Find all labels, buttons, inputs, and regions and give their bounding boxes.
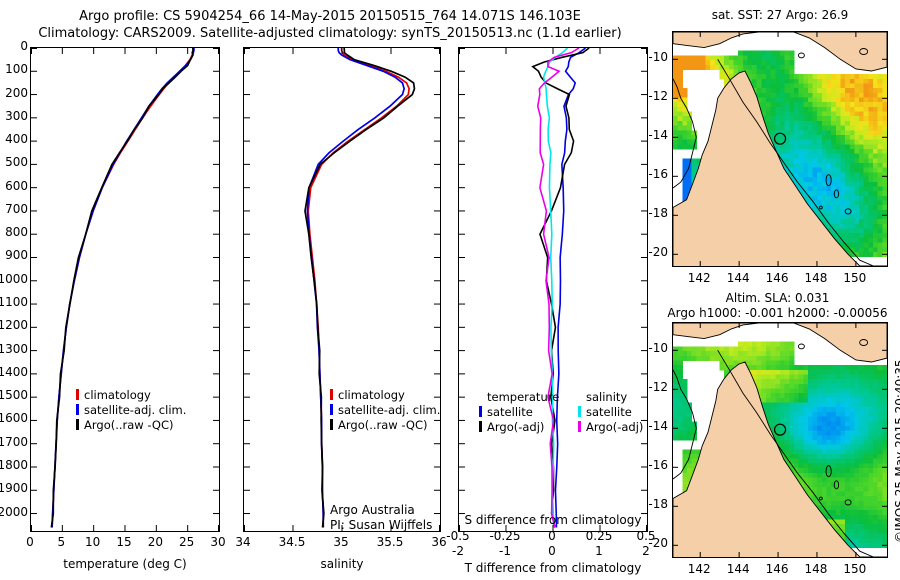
depth-ticklabel-1100: 1100 [0, 295, 28, 309]
legend-label: Argo(-adj) [586, 420, 643, 434]
argo-program-pi: PI: Susan Wijffels [330, 518, 432, 533]
depth-ticklabel-1900: 1900 [0, 481, 28, 495]
legend-color-swatch [578, 421, 581, 432]
tdiff-ticklabel--2: -2 [438, 544, 478, 558]
argo-program-name: Argo Australia [330, 503, 432, 518]
salinity-legend-item: climatology [330, 388, 440, 403]
legend-label: satellite-adj. clim. [338, 403, 440, 417]
difference-profile-plot [459, 48, 647, 531]
temperature-legend-item: climatology [76, 388, 186, 403]
panel-temperature [30, 47, 220, 532]
legend-label: Argo(-adj) [487, 420, 544, 434]
map-sla-title-line1: Altim. SLA: 0.031 [655, 291, 900, 306]
panel-salinity [243, 47, 441, 532]
legend-color-swatch [330, 419, 333, 430]
map-sla-title: Altim. SLA: 0.031 Argo h1000: -0.001 h20… [655, 291, 900, 321]
map-sst-lon-ticklabel-142: 142 [679, 271, 719, 285]
salinity-ticklabel-34.5: 34.5 [270, 535, 314, 549]
legend-label: Argo(..raw -QC) [338, 418, 428, 432]
difference-temperature-legend-header: temperature [479, 390, 559, 405]
difference-salinity-legend: salinitysatelliteArgo(-adj) [578, 390, 643, 435]
panel-difference [458, 47, 648, 532]
map-sla [672, 322, 888, 558]
depth-ticklabel-0: 0 [0, 39, 28, 53]
map-sla-lon-ticklabel-150: 150 [835, 562, 875, 576]
depth-ticklabel-300: 300 [0, 109, 28, 123]
map-sla-lat-ticklabel--14: -14 [636, 419, 668, 433]
depth-ticklabel-400: 400 [0, 132, 28, 146]
map-sst-lon-ticklabel-150: 150 [835, 271, 875, 285]
argo-program-note: Argo Australia PI: Susan Wijffels [330, 503, 432, 533]
map-sla-lat-ticklabel--18: -18 [636, 497, 668, 511]
legend-color-swatch [330, 389, 333, 400]
difference-temperature-legend-item: satellite [479, 405, 559, 420]
map-sst-lon-ticklabel-144: 144 [718, 271, 758, 285]
salinity-legend-item: Argo(..raw -QC) [330, 418, 440, 433]
depth-ticklabel-1500: 1500 [0, 388, 28, 402]
map-sla-lat-ticklabel--16: -16 [636, 458, 668, 472]
salinity-ticklabel-35.5: 35.5 [368, 535, 412, 549]
tdiff-ticklabel--1: -1 [485, 544, 525, 558]
map-sst [672, 31, 888, 267]
map-sst-lat-ticklabel--10: -10 [636, 50, 668, 64]
map-sla-lon-ticklabel-142: 142 [679, 562, 719, 576]
sdiff-ticklabel-0: 0 [530, 529, 574, 543]
map-sst-title: sat. SST: 27 Argo: 26.9 [660, 8, 900, 23]
legend-label: climatology [84, 388, 151, 402]
temperature-profile-plot [31, 48, 219, 531]
depth-ticklabel-1000: 1000 [0, 272, 28, 286]
tdiff-ticklabel-0: 0 [532, 544, 572, 558]
difference-temperature-legend: temperaturesatelliteArgo(-adj) [479, 390, 559, 435]
legend-color-swatch [76, 389, 79, 400]
sdiff-ticklabel--0.5: -0.5 [436, 529, 480, 543]
legend-label: satellite [586, 405, 632, 419]
temperature-legend-item: Argo(..raw -QC) [76, 418, 186, 433]
depth-ticklabel-800: 800 [0, 225, 28, 239]
depth-ticklabel-900: 900 [0, 248, 28, 262]
map-sst-lat-ticklabel--20: -20 [636, 245, 668, 259]
sdiff-ticklabel-0.25: 0.25 [577, 529, 621, 543]
map-sst-lat-ticklabel--12: -12 [636, 89, 668, 103]
legend-color-swatch [330, 404, 333, 415]
depth-ticklabel-600: 600 [0, 179, 28, 193]
salinity-ticklabel-35: 35 [319, 535, 363, 549]
figure-canvas: Argo profile: CS 5904254_66 14-May-2015 … [0, 0, 900, 580]
map-sst-lon-ticklabel-146: 146 [757, 271, 797, 285]
depth-ticklabel-500: 500 [0, 155, 28, 169]
figure-title-line2: Climatology: CARS2009. Satellite-adjuste… [0, 25, 660, 42]
salinity-x-axis-title: salinity [243, 557, 441, 571]
depth-ticklabel-200: 200 [0, 86, 28, 100]
temperature-x-axis-title: temperature (deg C) [30, 557, 220, 571]
depth-ticklabel-1700: 1700 [0, 435, 28, 449]
depth-ticklabel-1600: 1600 [0, 411, 28, 425]
sdiff-ticklabel--0.25: -0.25 [483, 529, 527, 543]
legend-color-swatch [578, 406, 581, 417]
map-sla-lat-ticklabel--12: -12 [636, 380, 668, 394]
difference-top-axis-title: S difference from climatology [458, 513, 648, 527]
difference-bottom-axis-title: T difference from climatology [458, 561, 648, 575]
map-sst-lat-ticklabel--14: -14 [636, 128, 668, 142]
salinity-legend: climatologysatellite-adj. clim.Argo(..ra… [330, 388, 440, 433]
legend-color-swatch [76, 404, 79, 415]
depth-ticklabel-1300: 1300 [0, 342, 28, 356]
depth-ticklabel-100: 100 [0, 62, 28, 76]
map-sla-lon-ticklabel-144: 144 [718, 562, 758, 576]
temperature-legend: climatologysatellite-adj. clim.Argo(..ra… [76, 388, 186, 433]
depth-ticklabel-1400: 1400 [0, 365, 28, 379]
depth-ticklabel-1200: 1200 [0, 318, 28, 332]
copyright-label: ©IMOS 25-May-2015 20:40:35 [893, 359, 900, 543]
figure-title-line1: Argo profile: CS 5904254_66 14-May-2015 … [0, 8, 660, 25]
salinity-profile-plot [244, 48, 440, 531]
difference-salinity-legend-header: salinity [578, 390, 643, 405]
map-sst-canvas [673, 32, 887, 266]
temperature-legend-item: satellite-adj. clim. [76, 403, 186, 418]
tdiff-ticklabel-1: 1 [579, 544, 619, 558]
salinity-ticklabel-34: 34 [221, 535, 265, 549]
difference-temperature-legend-item: Argo(-adj) [479, 420, 559, 435]
legend-label: satellite [487, 405, 533, 419]
map-sla-lat-ticklabel--10: -10 [636, 341, 668, 355]
depth-ticklabel-700: 700 [0, 202, 28, 216]
difference-salinity-legend-item: satellite [578, 405, 643, 420]
legend-color-swatch [479, 421, 482, 432]
legend-label: Argo(..raw -QC) [84, 418, 174, 432]
legend-color-swatch [76, 419, 79, 430]
legend-label: climatology [338, 388, 405, 402]
map-sst-lat-ticklabel--16: -16 [636, 167, 668, 181]
figure-title: Argo profile: CS 5904254_66 14-May-2015 … [0, 8, 660, 42]
depth-ticklabel-1800: 1800 [0, 458, 28, 472]
map-sst-lon-ticklabel-148: 148 [796, 271, 836, 285]
map-sla-lat-ticklabel--20: -20 [636, 536, 668, 550]
legend-label: satellite-adj. clim. [84, 403, 186, 417]
map-sla-lon-ticklabel-148: 148 [796, 562, 836, 576]
map-sla-title-line2: Argo h1000: -0.001 h2000: -0.00056 [655, 306, 900, 321]
map-sla-canvas [673, 323, 887, 557]
salinity-legend-item: satellite-adj. clim. [330, 403, 440, 418]
map-sst-lat-ticklabel--18: -18 [636, 206, 668, 220]
map-sla-lon-ticklabel-146: 146 [757, 562, 797, 576]
difference-salinity-legend-item: Argo(-adj) [578, 420, 643, 435]
legend-color-swatch [479, 406, 482, 417]
depth-ticklabel-2000: 2000 [0, 505, 28, 519]
